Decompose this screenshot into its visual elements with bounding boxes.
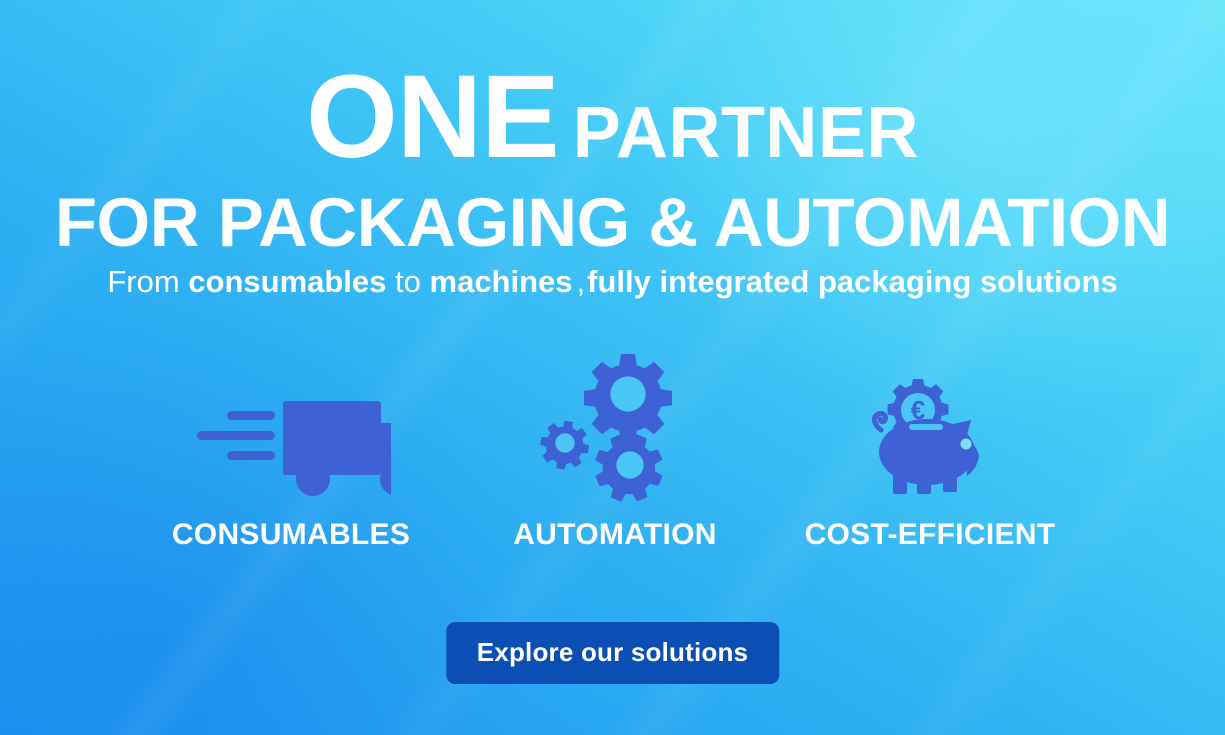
feature-label-cost-efficient: COST-EFFICIENT bbox=[735, 518, 1125, 552]
hero-banner: ONEPARTNER FOR PACKAGING & AUTOMATION Fr… bbox=[0, 0, 1225, 735]
headline-line-1: ONEPARTNER bbox=[0, 58, 1225, 176]
subtitle-part-to: to bbox=[395, 264, 421, 299]
subtitle-comma: , bbox=[577, 264, 586, 299]
subtitle: From consumables to machines,fully integ… bbox=[0, 262, 1225, 302]
piggy-bank-euro-icon: € bbox=[865, 374, 995, 499]
subtitle-part-solutions: fully integrated packaging solutions bbox=[587, 264, 1118, 299]
banner-content: ONEPARTNER FOR PACKAGING & AUTOMATION Fr… bbox=[0, 0, 1225, 735]
gears-icon bbox=[540, 345, 690, 505]
feature-row: CONSUMABLES bbox=[0, 340, 1225, 590]
feature-cost-efficient: € bbox=[735, 340, 1125, 552]
subtitle-part-machines: machines bbox=[430, 264, 573, 299]
headline-emphasis-word: ONE bbox=[306, 51, 559, 183]
subtitle-part-consumables: consumables bbox=[188, 264, 386, 299]
headline-partner-word: PARTNER bbox=[573, 93, 919, 173]
explore-solutions-button[interactable]: Explore our solutions bbox=[446, 622, 779, 684]
headline-line-2: FOR PACKAGING & AUTOMATION bbox=[0, 186, 1225, 261]
subtitle-part-from: From bbox=[107, 264, 179, 299]
feature-icon-wrap: € bbox=[735, 340, 1125, 510]
delivery-truck-icon bbox=[191, 393, 391, 498]
